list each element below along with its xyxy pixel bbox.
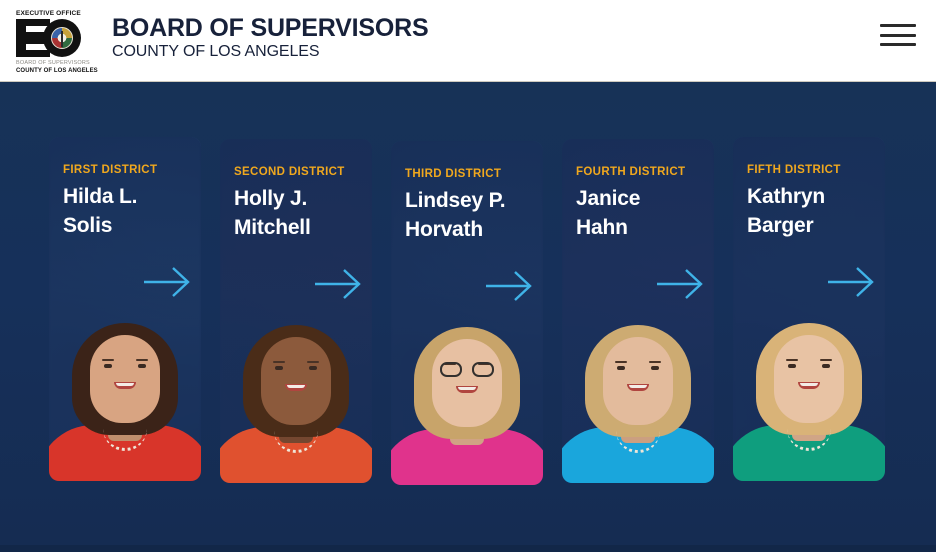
- card-content: THIRD DISTRICTLindsey P.Horvath: [391, 141, 543, 485]
- logo-subline-board: BOARD OF SUPERVISORS: [16, 60, 90, 67]
- supervisor-name: Holly J.Mitchell: [234, 184, 358, 242]
- supervisor-name-line2: Solis: [63, 211, 187, 240]
- arrow-right-icon[interactable]: [313, 267, 365, 301]
- supervisor-card-5[interactable]: FIFTH DISTRICTKathrynBarger: [733, 137, 885, 481]
- supervisor-name-line2: Barger: [747, 211, 871, 240]
- site-header: EXECUTIVE OFFICE BOARD OF SUPERVISORS CO…: [0, 0, 936, 82]
- supervisor-name-line2: Hahn: [576, 213, 700, 242]
- county-seal-icon: [51, 27, 73, 49]
- supervisor-name-line1: Lindsey P.: [405, 186, 529, 215]
- district-label: FOURTH DISTRICT: [576, 165, 700, 179]
- supervisor-card-grid: FIRST DISTRICTHilda L.SolisSECOND DISTRI…: [0, 82, 936, 545]
- hamburger-menu-icon[interactable]: Menu: [880, 20, 916, 50]
- supervisor-card-2[interactable]: SECOND DISTRICTHolly J.Mitchell: [220, 139, 372, 483]
- header-titles: BOARD OF SUPERVISORS COUNTY OF LOS ANGEL…: [90, 7, 428, 61]
- supervisor-name: KathrynBarger: [747, 182, 871, 240]
- supervisor-card-3[interactable]: THIRD DISTRICTLindsey P.Horvath: [391, 141, 543, 485]
- hamburger-bar-2: [880, 34, 916, 37]
- arrow-right-icon[interactable]: [826, 265, 878, 299]
- card-content: FOURTH DISTRICTJaniceHahn: [562, 139, 714, 483]
- logo-subline-county: COUNTY OF LOS ANGELES: [16, 67, 90, 75]
- logo-eyebrow-text: EXECUTIVE OFFICE: [16, 10, 90, 18]
- supervisor-name: Lindsey P.Horvath: [405, 186, 529, 244]
- footer-strip: [0, 545, 936, 552]
- district-label: THIRD DISTRICT: [405, 167, 529, 181]
- supervisors-hero-section: FIRST DISTRICTHilda L.SolisSECOND DISTRI…: [0, 82, 936, 545]
- eo-monogram-icon: [16, 19, 88, 57]
- supervisor-name-line1: Holly J.: [234, 184, 358, 213]
- supervisor-card-1[interactable]: FIRST DISTRICTHilda L.Solis: [49, 137, 201, 481]
- supervisor-card-4[interactable]: FOURTH DISTRICTJaniceHahn: [562, 139, 714, 483]
- supervisor-name-line2: Mitchell: [234, 213, 358, 242]
- arrow-right-icon[interactable]: [484, 269, 536, 303]
- district-label: FIRST DISTRICT: [63, 163, 187, 177]
- page-title: BOARD OF SUPERVISORS: [112, 15, 428, 42]
- supervisor-name-line1: Kathryn: [747, 182, 871, 211]
- card-content: FIRST DISTRICTHilda L.Solis: [49, 137, 201, 481]
- supervisor-name-line1: Janice: [576, 184, 700, 213]
- hamburger-bar-3: [880, 43, 916, 46]
- page-subtitle: COUNTY OF LOS ANGELES: [112, 42, 428, 61]
- supervisor-name-line2: Horvath: [405, 215, 529, 244]
- hamburger-bar-1: [880, 24, 916, 27]
- supervisor-name: Hilda L.Solis: [63, 182, 187, 240]
- supervisor-name: JaniceHahn: [576, 184, 700, 242]
- district-label: SECOND DISTRICT: [234, 165, 358, 179]
- letter-o-shape: [43, 19, 81, 57]
- arrow-right-icon[interactable]: [142, 265, 194, 299]
- card-content: SECOND DISTRICTHolly J.Mitchell: [220, 139, 372, 483]
- executive-office-logo[interactable]: EXECUTIVE OFFICE BOARD OF SUPERVISORS CO…: [16, 7, 90, 75]
- board-of-supervisors-page: EXECUTIVE OFFICE BOARD OF SUPERVISORS CO…: [0, 0, 936, 552]
- district-label: FIFTH DISTRICT: [747, 163, 871, 177]
- brand-lockup[interactable]: EXECUTIVE OFFICE BOARD OF SUPERVISORS CO…: [0, 7, 428, 75]
- supervisor-name-line1: Hilda L.: [63, 182, 187, 211]
- card-content: FIFTH DISTRICTKathrynBarger: [733, 137, 885, 481]
- arrow-right-icon[interactable]: [655, 267, 707, 301]
